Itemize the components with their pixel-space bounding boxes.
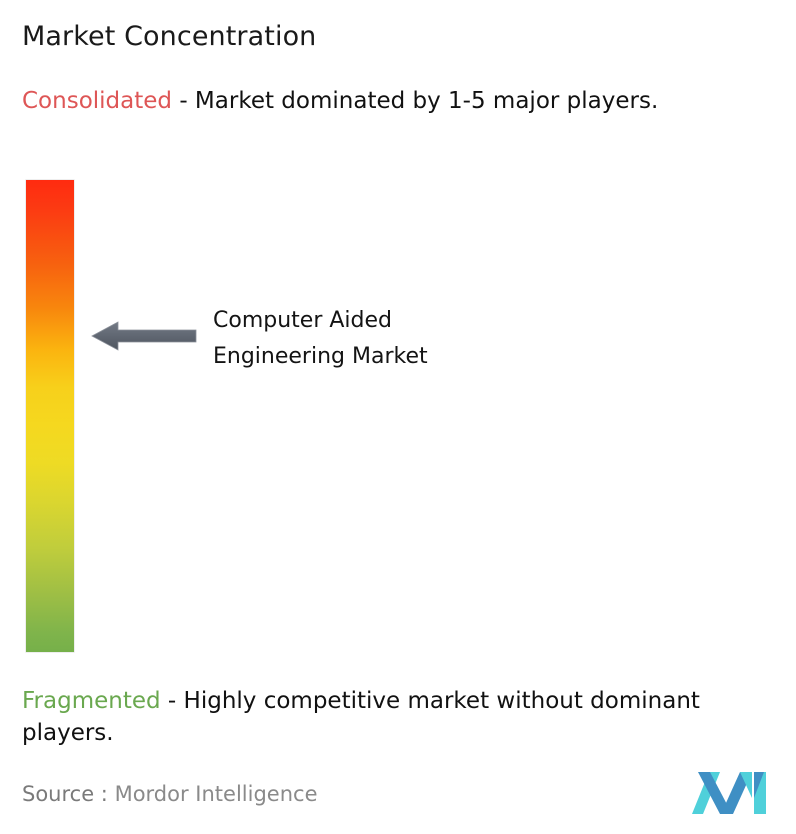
source-line: Source : Mordor Intelligence <box>22 780 317 808</box>
page-title: Market Concentration <box>22 20 316 54</box>
consolidated-keyword: Consolidated <box>22 88 172 114</box>
consolidated-description: - Market dominated by 1-5 major players. <box>172 88 658 114</box>
consolidated-caption: Consolidated - Market dominated by 1-5 m… <box>22 85 774 117</box>
source-value: Mordor Intelligence <box>115 782 318 806</box>
mordor-intelligence-logo-icon <box>692 770 772 816</box>
concentration-gradient-bar <box>26 180 74 652</box>
market-concentration-chart: Market Concentration Consolidated - Mark… <box>0 0 796 834</box>
fragmented-keyword: Fragmented <box>22 688 161 714</box>
fragmented-caption: Fragmented - Highly competitive market w… <box>22 685 787 749</box>
market-name-label: Computer Aided Engineering Market <box>213 303 428 375</box>
market-position-arrow <box>90 316 202 356</box>
source-label: Source : <box>22 782 108 806</box>
